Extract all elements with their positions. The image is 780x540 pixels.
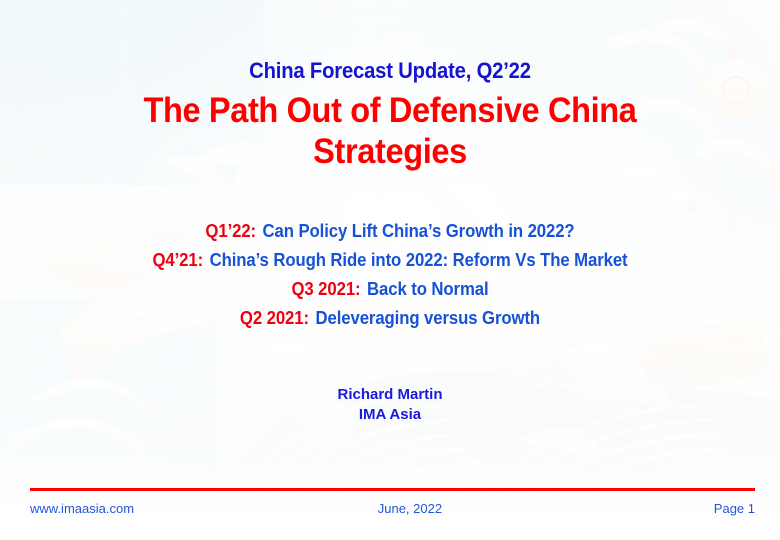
footer-row: www.imaasia.com June, 2022 Page 1 [30, 501, 755, 516]
footer-page-number: Page 1 [714, 501, 755, 516]
page-title: The Path Out of Defensive China Strategi… [27, 91, 752, 173]
agenda-item-q1-22: Q1’22:Can Policy Lift China’s Growth in … [27, 217, 752, 246]
title-block: China Forecast Update, Q2’22 The Path Ou… [0, 0, 780, 173]
agenda-item-q4-21: Q4’21:China’s Rough Ride into 2022: Refo… [27, 246, 752, 275]
agenda-item-q2-2021: Q2 2021:Deleveraging versus Growth [27, 304, 752, 333]
slide: China Forecast Update, Q2’22 The Path Ou… [0, 0, 780, 540]
author-organisation: IMA Asia [0, 405, 780, 425]
page-title-line-2: Strategies [27, 132, 752, 173]
slide-kicker: China Forecast Update, Q2’22 [31, 58, 749, 84]
agenda-item-text: Can Policy Lift China’s Growth in 2022? [263, 221, 575, 241]
agenda-item-label: Q3 2021: [291, 279, 360, 299]
author-block: Richard Martin IMA Asia [0, 385, 780, 425]
agenda-item-q3-2021: Q3 2021:Back to Normal [27, 275, 752, 304]
footer-date: June, 2022 [106, 501, 714, 516]
author-name: Richard Martin [0, 385, 780, 405]
slide-footer: www.imaasia.com June, 2022 Page 1 [0, 485, 780, 540]
agenda-item-label: Q2 2021: [240, 308, 309, 328]
page-title-line-1: The Path Out of Defensive China [27, 91, 752, 132]
agenda-item-text: Back to Normal [367, 279, 488, 299]
agenda-item-text: Deleveraging versus Growth [315, 308, 540, 328]
agenda-item-label: Q4’21: [152, 250, 203, 270]
agenda-list: Q1’22:Can Policy Lift China’s Growth in … [0, 217, 780, 334]
footer-divider [30, 488, 755, 491]
agenda-item-label: Q1’22: [205, 221, 256, 241]
agenda-item-text: China’s Rough Ride into 2022: Reform Vs … [210, 250, 628, 270]
slide-content: China Forecast Update, Q2’22 The Path Ou… [0, 0, 780, 540]
